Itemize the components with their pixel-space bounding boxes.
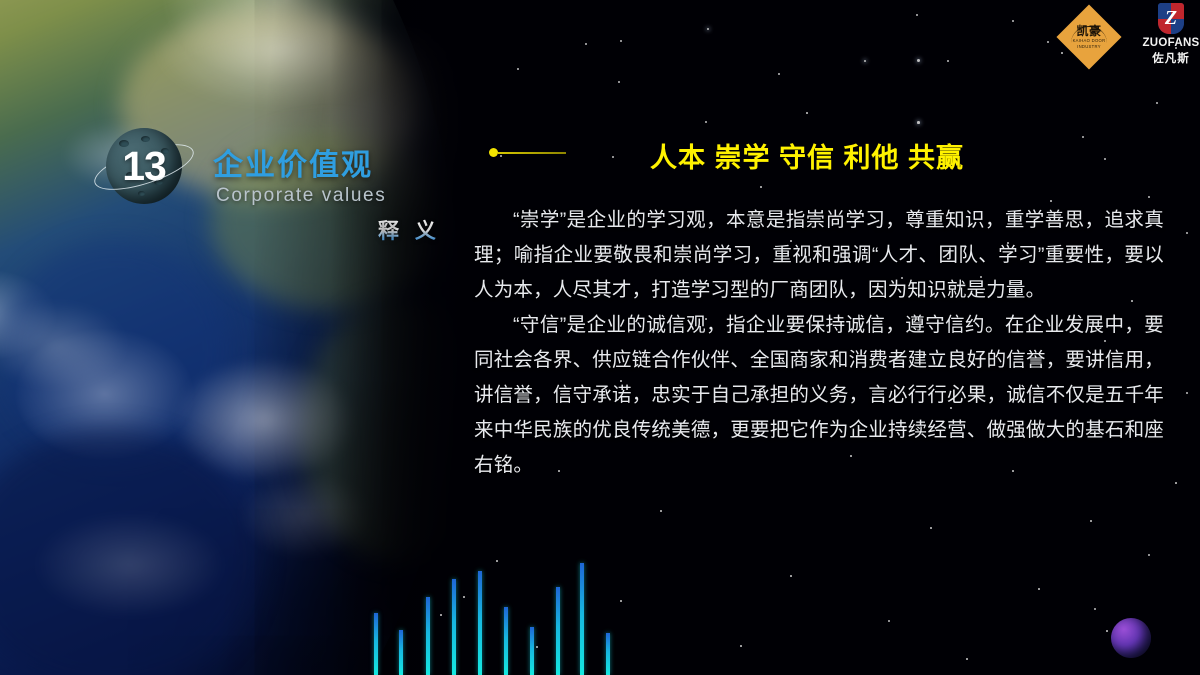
star (1038, 588, 1040, 590)
star (618, 81, 620, 83)
star (707, 28, 709, 30)
star (1156, 102, 1158, 104)
star (1148, 196, 1150, 198)
star (930, 527, 932, 529)
star (1186, 232, 1188, 234)
star (620, 600, 622, 602)
bar-item (478, 571, 482, 675)
star (1047, 41, 1049, 43)
bar-item (530, 627, 534, 675)
section-title-english: Corporate values (216, 185, 386, 207)
star (864, 60, 866, 62)
star (1175, 482, 1177, 484)
star (806, 112, 808, 114)
star (1104, 158, 1106, 160)
bar-item (556, 587, 560, 675)
star (1012, 20, 1014, 22)
section-planet-badge: 13 (106, 128, 182, 204)
slide-canvas: 13 企业价值观 Corporate values 释 义 人本 崇学 守信 利… (0, 0, 1200, 675)
star (790, 575, 792, 577)
star (620, 40, 622, 42)
headline-decoration (489, 148, 566, 157)
bar-decoration (374, 565, 584, 675)
zuofans-name-chinese: 佐凡斯 (1152, 50, 1190, 66)
zuofans-shield-icon: Z (1158, 3, 1184, 34)
star (1050, 200, 1052, 202)
star (1090, 520, 1092, 522)
zuofans-z-mark: Z (1158, 3, 1184, 34)
star (778, 73, 780, 75)
star (888, 620, 890, 622)
earth-cloud (235, 470, 375, 560)
headline-rule (498, 152, 566, 154)
star (585, 43, 587, 45)
star (916, 14, 918, 16)
kaihao-name-english: KAIHAO DOOR INDUSTRY (1073, 38, 1106, 49)
star (917, 121, 920, 124)
star (947, 60, 949, 62)
kaihao-logo-text: 凯豪 KAIHAO DOOR INDUSTRY (1058, 6, 1120, 68)
kaihao-en-line2: INDUSTRY (1073, 44, 1106, 50)
star (1148, 554, 1150, 556)
earth-cloud (30, 510, 230, 620)
kaihao-en-line1: KAIHAO DOOR (1073, 38, 1106, 44)
star (1094, 608, 1096, 610)
bar-item (504, 607, 508, 675)
star (660, 510, 662, 512)
bar-item (452, 579, 456, 675)
star (760, 186, 762, 188)
earth-cloud (170, 355, 360, 485)
section-subtitle: 释 义 (378, 215, 441, 245)
star (1186, 392, 1188, 394)
logo-zuofans: Z ZUOFANS 佐凡斯 (1146, 3, 1196, 66)
headline-values: 人本 崇学 守信 利他 共赢 (650, 136, 964, 175)
zuofans-name-english: ZUOFANS (1142, 37, 1199, 49)
star (917, 59, 920, 62)
body-paragraph: “崇学”是企业的学习观，本意是指崇尚学习，尊重知识，重学善思，追求真理；喻指企业… (474, 203, 1164, 308)
section-title-chinese: 企业价值观 (213, 140, 373, 184)
star (517, 68, 519, 70)
distant-planet (1111, 618, 1151, 658)
bar-item (374, 613, 378, 675)
body-paragraph: “守信”是企业的诚信观，指企业要保持诚信，遵守信约。在企业发展中，要同社会各界、… (474, 308, 1164, 483)
body-text-block: “崇学”是企业的学习观，本意是指崇尚学习，尊重知识，重学善思，追求真理；喻指企业… (474, 203, 1164, 483)
bar-item (399, 630, 403, 675)
kaihao-name-chinese: 凯豪 (1076, 25, 1101, 37)
star (1106, 630, 1108, 632)
bar-item (606, 633, 610, 675)
headline-dot-icon (489, 148, 498, 157)
star (966, 658, 968, 660)
star (705, 121, 707, 123)
star (612, 156, 614, 158)
star (496, 560, 498, 562)
bar-item (426, 597, 430, 675)
star (740, 645, 742, 647)
star (1082, 136, 1084, 138)
logo-kaihao: 凯豪 KAIHAO DOOR INDUSTRY (1058, 6, 1120, 68)
bar-item (580, 563, 584, 675)
